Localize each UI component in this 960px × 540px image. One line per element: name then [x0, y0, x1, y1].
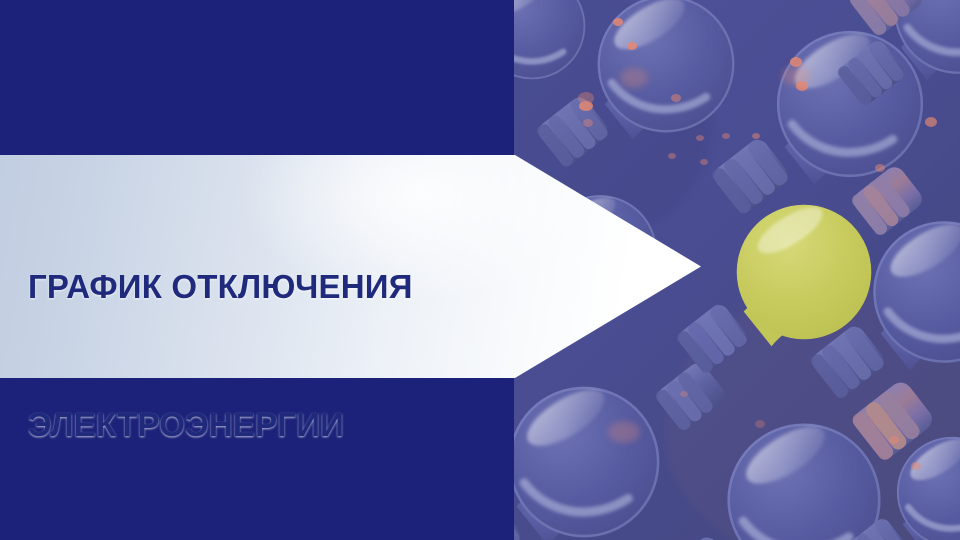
page-title: ГРАФИК ОТКЛЮЧЕНИЯ ЭЛЕКТРОЭНЕРГИИ В ГОРОД…	[28, 172, 498, 540]
headline-line-2: ЭЛЕКТРОЭНЕРГИИ	[28, 402, 498, 448]
headline-line-1: ГРАФИК ОТКЛЮЧЕНИЯ	[28, 264, 498, 310]
banner-graphic: ГРАФИК ОТКЛЮЧЕНИЯ ЭЛЕКТРОЭНЕРГИИ В ГОРОД…	[0, 0, 960, 540]
